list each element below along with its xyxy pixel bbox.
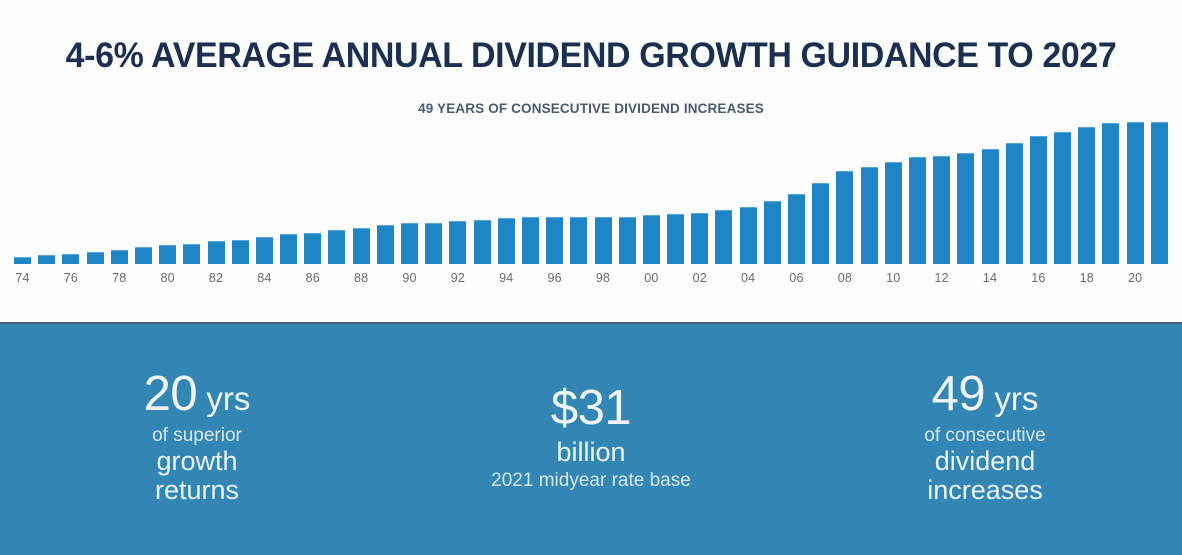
bar <box>14 257 31 264</box>
x-tick-label: 14 <box>982 264 999 294</box>
bar <box>38 255 55 264</box>
bar <box>885 162 902 264</box>
page-subtitle: 49 YEARS OF CONSECUTIVE DIVIDEND INCREAS… <box>0 101 1182 116</box>
bar <box>522 217 539 264</box>
stat-description: growthreturns <box>2 447 392 504</box>
bar <box>861 167 878 264</box>
x-tick-label: 16 <box>1030 264 1047 294</box>
infographic-page: 4-6% AVERAGE ANNUAL DIVIDEND GROWTH GUID… <box>0 0 1182 555</box>
x-tick-label: 00 <box>643 264 660 294</box>
bar <box>715 210 732 264</box>
bar <box>1054 132 1071 264</box>
x-tick-blank: . <box>909 264 926 294</box>
stat-growth-returns: 20 yrsof superiorgrowthreturns <box>2 370 392 505</box>
bar <box>498 218 515 263</box>
bar <box>982 149 999 264</box>
x-tick-label: 98 <box>595 264 612 294</box>
x-tick-blank: . <box>957 264 974 294</box>
x-tick-blank: . <box>232 264 249 294</box>
x-tick-blank: . <box>570 264 587 294</box>
x-tick-label: 10 <box>885 264 902 294</box>
x-tick-label: 76 <box>62 264 79 294</box>
x-tick-blank: . <box>377 264 394 294</box>
bar <box>619 217 636 264</box>
stat-headline: 49 yrs <box>790 370 1180 420</box>
bar <box>328 230 345 264</box>
x-tick-blank: . <box>425 264 442 294</box>
x-tick-label: 18 <box>1078 264 1095 294</box>
x-tick-label: 88 <box>353 264 370 294</box>
bar <box>788 194 805 264</box>
x-tick-label: 94 <box>498 264 515 294</box>
bar <box>353 228 370 264</box>
x-tick-blank: . <box>812 264 829 294</box>
x-tick-label: 82 <box>208 264 225 294</box>
x-tick-blank: . <box>1054 264 1071 294</box>
stat-description: dividendincreases <box>790 447 1180 504</box>
bar <box>135 247 152 264</box>
bar <box>812 183 829 264</box>
bar <box>449 221 466 264</box>
x-tick-blank: . <box>667 264 684 294</box>
x-tick-label: 04 <box>740 264 757 294</box>
x-tick-blank: . <box>1006 264 1023 294</box>
bar <box>474 220 491 264</box>
x-tick-blank: . <box>715 264 732 294</box>
bar <box>933 156 950 264</box>
bar <box>1078 127 1095 263</box>
x-tick-blank: . <box>619 264 636 294</box>
x-tick-blank: . <box>135 264 152 294</box>
bar <box>1006 143 1023 264</box>
bar <box>570 217 587 264</box>
stat-unit: yrs <box>197 380 250 417</box>
x-tick-blank: . <box>183 264 200 294</box>
x-tick-blank: . <box>764 264 781 294</box>
bar <box>740 207 757 264</box>
bar <box>377 225 394 263</box>
bar <box>256 237 273 264</box>
stat-caption: of superior <box>2 426 392 445</box>
bar <box>1127 122 1144 264</box>
chart-plot-area <box>14 122 1168 264</box>
bar <box>1102 123 1119 264</box>
bar <box>643 215 660 263</box>
x-tick-label: 74 <box>14 264 31 294</box>
bar <box>764 201 781 264</box>
x-tick-blank: . <box>280 264 297 294</box>
x-tick-blank: . <box>38 264 55 294</box>
x-tick-blank: . <box>1151 264 1168 294</box>
bar <box>425 223 442 264</box>
page-title: 4-6% AVERAGE ANNUAL DIVIDEND GROWTH GUID… <box>18 38 1165 75</box>
stat-description: billion <box>396 438 786 467</box>
stat-unit: yrs <box>985 380 1038 417</box>
x-tick-blank: . <box>1102 264 1119 294</box>
x-tick-label: 02 <box>691 264 708 294</box>
x-tick-blank: . <box>522 264 539 294</box>
bar <box>1151 122 1168 264</box>
stat-caption: 2021 midyear rate base <box>396 471 786 490</box>
stat-dividend-increases: 49 yrsof consecutivedividendincreases <box>790 370 1180 505</box>
x-tick-label: 86 <box>304 264 321 294</box>
stat-rate-base: $31billion2021 midyear rate base <box>396 384 786 490</box>
x-tick-blank: . <box>474 264 491 294</box>
x-tick-label: 12 <box>933 264 950 294</box>
bar <box>111 250 128 264</box>
x-tick-label: 84 <box>256 264 273 294</box>
x-tick-label: 92 <box>449 264 466 294</box>
bar <box>546 217 563 264</box>
bar <box>159 245 176 264</box>
x-tick-label: 06 <box>788 264 805 294</box>
bar <box>836 171 853 263</box>
chart-x-axis: 74.76.78.80.82.84.86.88.90.92.94.96.98.0… <box>14 264 1168 294</box>
x-tick-label: 90 <box>401 264 418 294</box>
x-tick-blank: . <box>328 264 345 294</box>
bar <box>401 223 418 264</box>
x-tick-label: 78 <box>111 264 128 294</box>
bar <box>183 244 200 264</box>
x-tick-label: 08 <box>836 264 853 294</box>
bar <box>304 233 321 264</box>
bar <box>280 234 297 264</box>
bar <box>691 213 708 264</box>
bar <box>957 153 974 264</box>
stat-headline: $31 <box>396 384 786 434</box>
bar <box>208 241 225 264</box>
stat-caption: of consecutive <box>790 426 1180 445</box>
bar <box>1030 136 1047 264</box>
bar <box>232 240 249 264</box>
x-tick-label: 96 <box>546 264 563 294</box>
bar <box>595 217 612 264</box>
x-tick-label: 80 <box>159 264 176 294</box>
header: 4-6% AVERAGE ANNUAL DIVIDEND GROWTH GUID… <box>0 0 1182 116</box>
bar <box>87 252 104 263</box>
bar <box>909 157 926 264</box>
bar <box>667 214 684 264</box>
x-tick-blank: . <box>87 264 104 294</box>
x-tick-label: 20 <box>1127 264 1144 294</box>
x-tick-blank: . <box>861 264 878 294</box>
bar <box>62 254 79 264</box>
stat-headline: 20 yrs <box>2 370 392 420</box>
stats-panel: 20 yrsof superiorgrowthreturns$31billion… <box>0 322 1182 555</box>
dividend-bar-chart: 74.76.78.80.82.84.86.88.90.92.94.96.98.0… <box>0 122 1182 322</box>
